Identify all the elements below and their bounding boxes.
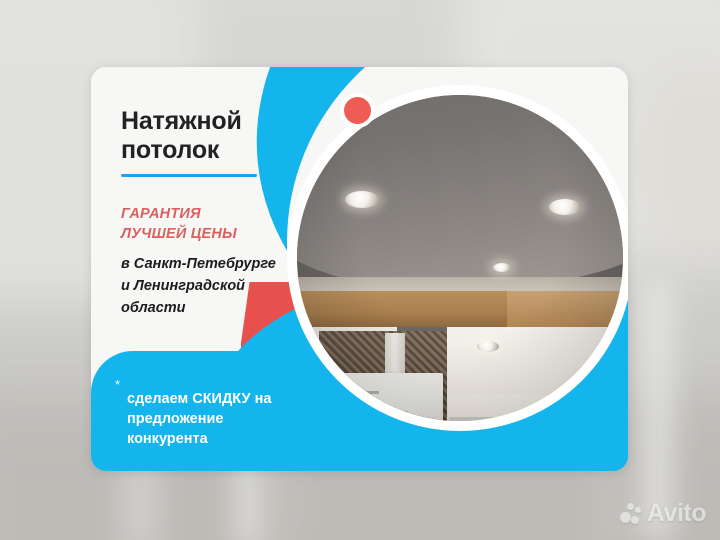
avito-watermark: Avito xyxy=(620,499,706,528)
photo-vignette xyxy=(297,95,623,421)
screenshot-canvas: Натяжной потолок ГАРАНТИЯ ЛУЧШЕЙ ЦЕНЫ в … xyxy=(0,0,720,540)
service-area-line1: в Санкт-Петебрурге xyxy=(121,253,316,275)
service-area-line3: области xyxy=(121,297,316,319)
page-title-line1: Натяжной xyxy=(121,107,316,136)
page-title-line2: потолок xyxy=(121,136,316,165)
interior-photo xyxy=(297,95,623,421)
guarantee-line2: ЛУЧШЕЙ ЦЕНЫ xyxy=(121,224,316,244)
advertisement-card[interactable]: Натяжной потолок ГАРАНТИЯ ЛУЧШЕЙ ЦЕНЫ в … xyxy=(91,67,628,471)
avito-dot-1 xyxy=(620,512,631,523)
guarantee-line1: ГАРАНТИЯ xyxy=(121,204,316,224)
title-underline xyxy=(121,174,257,177)
avito-dot-2 xyxy=(631,516,639,524)
avito-dot-4 xyxy=(635,507,641,513)
guarantee-text: ГАРАНТИЯ ЛУЧШЕЙ ЦЕНЫ xyxy=(121,204,316,244)
discount-line3: конкурента xyxy=(127,429,342,449)
service-area-text: в Санкт-Петебрурге и Ленинградской облас… xyxy=(121,253,316,319)
discount-line1: сделаем СКИДКУ на xyxy=(127,389,342,409)
discount-line2: предложение xyxy=(127,409,342,429)
avito-wordmark: Avito xyxy=(647,499,706,528)
avito-dot-3 xyxy=(627,503,634,510)
service-area-line2: и Ленинградской xyxy=(121,275,316,297)
banner-asterisk: * xyxy=(115,378,120,391)
avito-dots-logo xyxy=(620,503,642,525)
red-dot-accent xyxy=(344,97,371,124)
discount-banner-text: сделаем СКИДКУ на предложение конкурента xyxy=(127,389,342,449)
page-title: Натяжной потолок xyxy=(121,107,316,165)
headline-block: Натяжной потолок ГАРАНТИЯ ЛУЧШЕЙ ЦЕНЫ в … xyxy=(121,107,316,319)
